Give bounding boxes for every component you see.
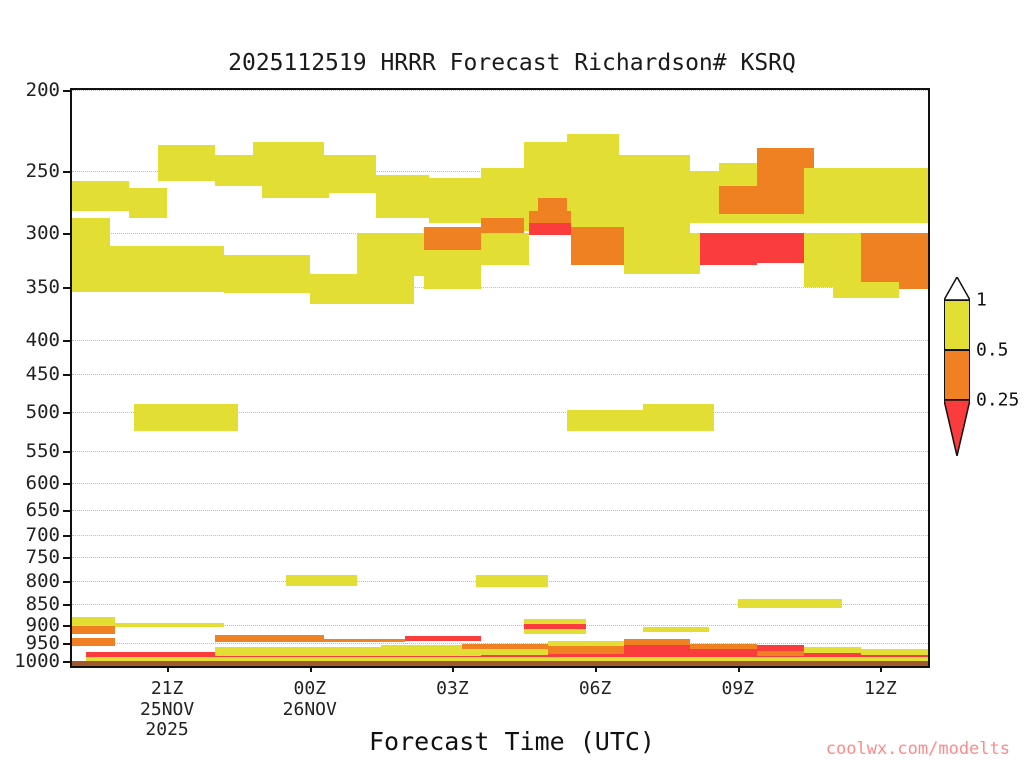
heatmap-cell [757, 233, 805, 263]
heatmap-cell [324, 155, 376, 194]
x-tick-label: 03Z [392, 679, 512, 700]
y-tick-mark [63, 510, 70, 512]
y-tick-label: 350 [0, 278, 60, 297]
heatmap-cell [72, 181, 129, 211]
y-tick-mark [63, 483, 70, 485]
y-tick-label: 250 [0, 162, 60, 181]
y-tick-label: 850 [0, 595, 60, 614]
y-tick-mark [63, 581, 70, 583]
heatmap-cell [476, 575, 547, 587]
colorbar-under-arrow [944, 400, 970, 456]
y-tick-label: 300 [0, 224, 60, 243]
heatmap-cell [524, 629, 586, 634]
heatmap-cell [424, 246, 481, 289]
heatmap-cell [72, 638, 115, 646]
heatmap-cell [357, 233, 424, 276]
colorbar-tick-label: 0.5 [976, 340, 1009, 361]
heatmap-cell [700, 233, 757, 265]
credit-text: coolwx.com/modelts [826, 739, 1010, 759]
chart-root: 2025112519 HRRR Forecast Richardson# KSR… [0, 0, 1024, 768]
heatmap-cell [529, 211, 572, 223]
y-tick-mark [63, 340, 70, 342]
plot-area [70, 88, 930, 668]
heatmap-cell [481, 168, 524, 221]
heatmap-cell [310, 274, 415, 304]
heatmap-cell [757, 651, 805, 656]
heatmap-cell [861, 649, 928, 654]
heatmap-cell [643, 404, 714, 430]
heatmap-cell [405, 636, 481, 641]
heatmap-cell [738, 599, 843, 608]
x-tick-label: 00Z26NOV [250, 679, 370, 720]
y-tick-label: 800 [0, 572, 60, 591]
y-tick-label: 1000 [0, 652, 60, 671]
heatmap-cell [429, 178, 481, 223]
heatmap-cell [804, 647, 861, 653]
x-tick-mark [167, 666, 169, 672]
heatmap-cell [567, 134, 619, 174]
y-tick-mark [63, 171, 70, 173]
heatmap-cell [262, 173, 329, 198]
heatmap-cell [224, 255, 310, 294]
heatmap-cell [158, 145, 215, 181]
x-tick-mark [738, 666, 740, 672]
heatmap-cell [215, 635, 324, 641]
heatmap-cell [804, 233, 861, 287]
y-tick-label: 500 [0, 403, 60, 422]
y-tick-mark [63, 233, 70, 235]
x-tick-label: 09Z [678, 679, 798, 700]
heatmap-cell [567, 173, 619, 233]
y-tick-mark [63, 661, 70, 663]
heatmap-cell [72, 626, 115, 634]
heatmap-cell [643, 627, 710, 632]
heatmap-cell [129, 188, 167, 218]
heatmap-cell [72, 617, 115, 626]
y-tick-mark [63, 625, 70, 627]
heatmap-cell [833, 282, 900, 298]
colorbar-segment [944, 300, 970, 350]
heatmap-cell [481, 233, 529, 265]
y-tick-label: 700 [0, 526, 60, 545]
y-tick-mark [63, 604, 70, 606]
colorbar-tick-label: 0.25 [976, 390, 1019, 411]
y-tick-label: 550 [0, 442, 60, 461]
heatmap-cell [571, 227, 623, 266]
x-tick-mark [880, 666, 882, 672]
heatmap-cell [215, 647, 381, 655]
heatmap-cell [529, 223, 572, 235]
x-tick-mark [595, 666, 597, 672]
y-tick-mark [63, 643, 70, 645]
heatmap-cell [548, 646, 624, 654]
heatmap-cell [324, 639, 405, 643]
y-tick-mark [63, 412, 70, 414]
chart-title: 2025112519 HRRR Forecast Richardson# KSR… [0, 50, 1024, 76]
heatmap-cell [462, 644, 552, 649]
y-tick-mark [63, 451, 70, 453]
y-tick-label: 450 [0, 365, 60, 384]
colorbar-segment [944, 350, 970, 400]
heatmap-cell [286, 575, 357, 586]
heatmap-cell [72, 246, 224, 292]
y-tick-label: 650 [0, 501, 60, 520]
colorbar-legend: 10.50.25 [944, 300, 970, 456]
y-tick-mark [63, 287, 70, 289]
heatmap-cell [624, 233, 700, 274]
y-tick-label: 400 [0, 331, 60, 350]
x-tick-label: 12Z [820, 679, 940, 700]
y-tick-mark [63, 557, 70, 559]
y-tick-label: 750 [0, 548, 60, 567]
y-tick-mark [63, 90, 70, 92]
colorbar-over-arrow-outline [944, 277, 970, 300]
heatmap-cell [567, 410, 643, 430]
colorbar-tick-label: 1 [976, 290, 987, 311]
heatmap-cell [690, 649, 757, 654]
y-tick-label: 200 [0, 81, 60, 100]
heatmap-cell [624, 645, 691, 652]
heatmap-cell [524, 142, 567, 175]
x-tick-mark [310, 666, 312, 672]
x-tick-label: 06Z [535, 679, 655, 700]
x-tick-mark [452, 666, 454, 672]
heatmap-cell [814, 173, 881, 195]
heatmap-cell [376, 175, 428, 218]
heatmap-cells [72, 90, 928, 666]
y-tick-mark [63, 374, 70, 376]
y-tick-mark [63, 535, 70, 537]
y-tick-label: 600 [0, 474, 60, 493]
heatmap-cell [115, 623, 224, 627]
heatmap-cell [134, 404, 239, 430]
ground-layer [72, 661, 928, 666]
